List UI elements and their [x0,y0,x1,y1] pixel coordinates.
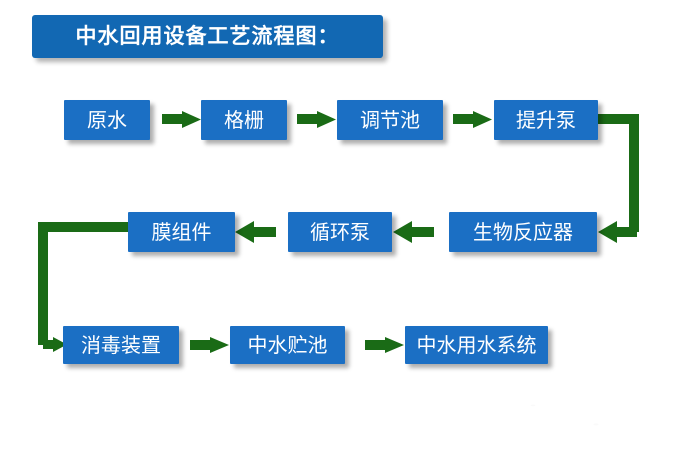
arrow-grille-to-regulating-tank [297,111,336,128]
node-regulating-tank-label: 调节池 [360,110,420,130]
flowchart-canvas: 中水回用设备工艺流程图： [0,0,683,452]
node-membrane-module[interactable]: 膜组件 [128,212,235,252]
connector-lift-pump-to-bioreactor [598,119,637,243]
node-grille-label: 格栅 [224,110,264,130]
node-circulating-pump-label: 循环泵 [310,222,370,242]
arrow-disinfection-to-storage-tank [190,337,229,353]
node-regulating-tank[interactable]: 调节池 [337,100,443,140]
arrow-raw-water-to-grille [162,111,201,128]
node-lift-pump[interactable]: 提升泵 [494,100,598,140]
node-reuse-system[interactable]: 中水用水系统 [405,326,548,364]
node-raw-water[interactable]: 原水 [64,100,150,140]
node-circulating-pump[interactable]: 循环泵 [288,212,392,252]
watermark [470,375,680,451]
node-disinfection[interactable]: 消毒装置 [63,326,179,364]
arrow-regulating-tank-to-lift-pump [453,111,492,128]
node-disinfection-label: 消毒装置 [81,335,161,355]
node-grille[interactable]: 格栅 [201,100,287,140]
node-storage-tank-label: 中水贮池 [248,335,328,355]
node-lift-pump-label: 提升泵 [516,110,576,130]
node-bioreactor-label: 生物反应器 [473,222,573,242]
node-storage-tank[interactable]: 中水贮池 [230,326,345,364]
arrow-storage-tank-to-reuse-system [365,337,404,353]
node-raw-water-label: 原水 [87,110,127,130]
arrow-bioreactor-to-circulating-pump [393,221,434,243]
diagram-title-text: 中水回用设备工艺流程图： [76,26,340,47]
diagram-title-banner: 中水回用设备工艺流程图： [32,15,383,58]
node-reuse-system-label: 中水用水系统 [417,335,537,355]
node-bioreactor[interactable]: 生物反应器 [449,212,597,252]
node-membrane-module-label: 膜组件 [152,222,212,242]
arrow-circulating-pump-to-membrane [235,221,276,243]
